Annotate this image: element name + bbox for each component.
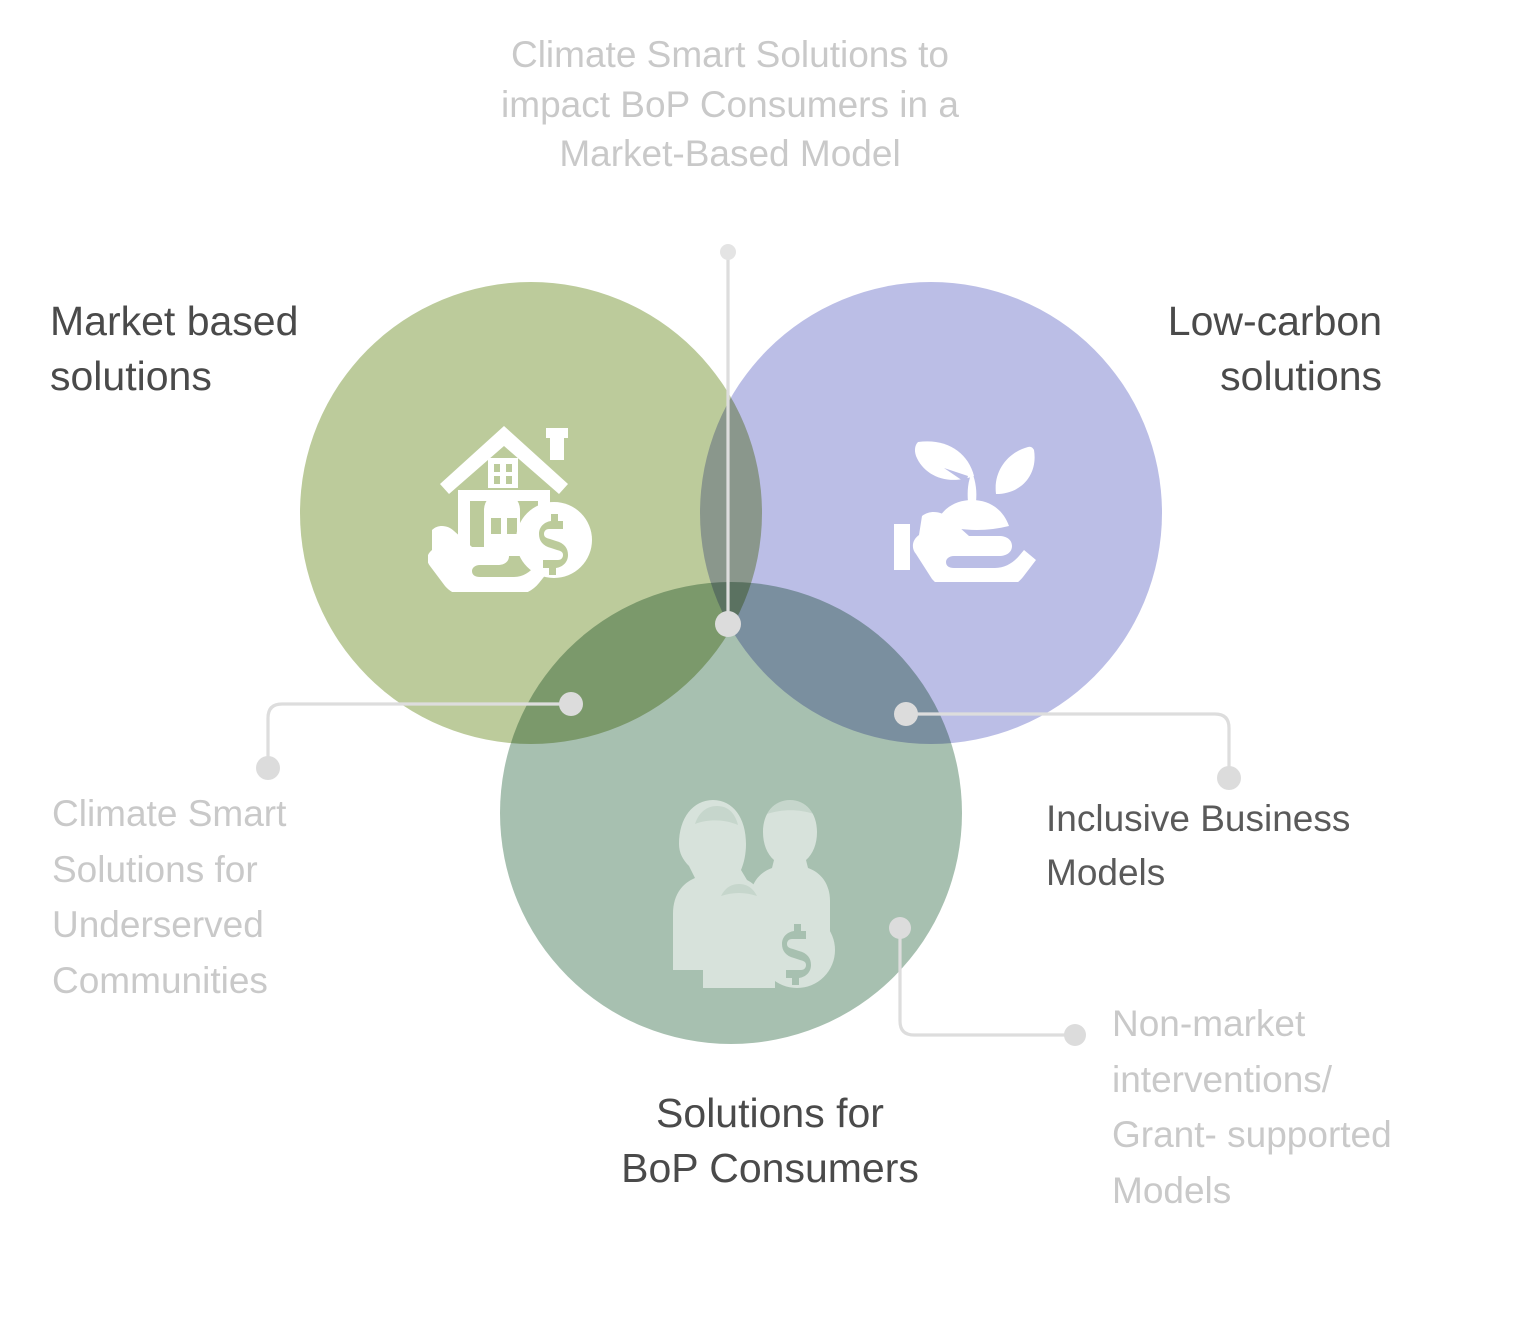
set-label-low-carbon-solutions: Low-carbon solutions [1030,294,1382,404]
intersection-label-underserved-communities: Climate Smart Solutions for Underserved … [52,786,382,1008]
set-label-market-based-solutions: Market based solutions [50,294,390,404]
intersection-label-non-market-interventions: Non-market interventions/ Grant- support… [1112,996,1502,1218]
venn-diagram: Climate Smart Solutions to impact BoP Co… [0,0,1532,1336]
intersection-label-inclusive-business-models: Inclusive Business Models [1046,792,1466,899]
set-label-bop-consumers: Solutions for BoP Consumers [520,1086,1020,1196]
venn-circle-bop-consumers[interactable] [500,582,962,1044]
intersection-label-center: Climate Smart Solutions to impact BoP Co… [400,30,1060,179]
